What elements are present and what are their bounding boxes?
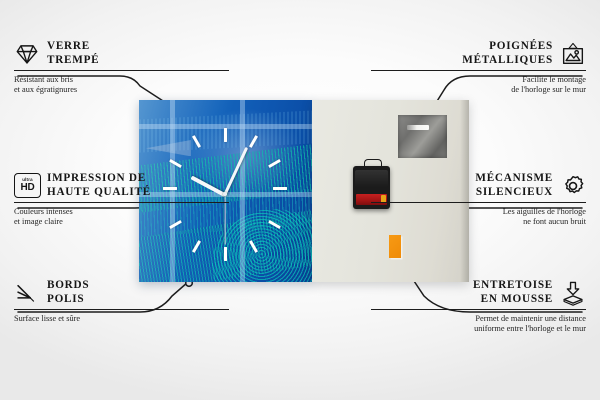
mechanism-hook bbox=[364, 159, 382, 169]
metal-hanging-plate bbox=[398, 115, 447, 159]
feature-sub-line2: de l'horloge sur le mur bbox=[371, 85, 586, 95]
feature-divider bbox=[371, 309, 586, 310]
clock-tick bbox=[224, 128, 227, 142]
gear-icon bbox=[560, 173, 586, 199]
wall-mount-frame-icon bbox=[560, 41, 586, 67]
feature-title-line2: EN MOUSSE bbox=[473, 293, 553, 307]
feature-title-line2: MÉTALLIQUES bbox=[462, 54, 553, 68]
ultra-hd-icon-large-text: HD bbox=[20, 183, 34, 193]
feature-title-line1: MÉCANISME bbox=[475, 172, 553, 186]
feature-sub-line1: Couleurs intenses bbox=[14, 207, 229, 217]
feature-divider bbox=[371, 202, 586, 203]
feature-title-line1: IMPRESSION DE bbox=[47, 172, 151, 186]
feature-sub-line2: et aux égratignures bbox=[14, 85, 229, 95]
feature-title-line1: BORDS bbox=[47, 279, 89, 293]
feature-sub-line2: et image claire bbox=[14, 217, 229, 227]
feature-sub-line1: Facilite le montage bbox=[371, 75, 586, 85]
ultra-hd-icon: ultra HD bbox=[14, 173, 40, 199]
feature-mecanisme-silencieux: MÉCANISME SILENCIEUX Les aiguilles de l'… bbox=[371, 172, 586, 228]
feature-divider bbox=[14, 70, 229, 71]
orange-foam-spacer bbox=[389, 235, 401, 259]
feature-title-line1: ENTRETOISE bbox=[473, 279, 553, 293]
feature-entretoise-en-mousse: ENTRETOISE EN MOUSSE Permet de maintenir… bbox=[371, 279, 586, 335]
feature-verre-trempe: VERRE TREMPÉ Résistant aux bris et aux é… bbox=[14, 40, 229, 96]
feature-sub-line1: Résistant aux bris bbox=[14, 75, 229, 85]
feature-bords-polis: BORDS POLIS Surface lisse et sûre bbox=[14, 279, 229, 324]
hanger-slot bbox=[407, 125, 429, 130]
foam-spacer-icon bbox=[560, 280, 586, 306]
feature-title-line1: POIGNÉES bbox=[462, 40, 553, 54]
feature-divider bbox=[14, 309, 229, 310]
feature-sub-line1: Les aiguilles de l'horloge bbox=[371, 207, 586, 217]
feature-divider bbox=[371, 70, 586, 71]
diamond-icon bbox=[14, 41, 40, 67]
polished-edges-icon bbox=[14, 280, 40, 306]
feature-title-line2: POLIS bbox=[47, 293, 89, 307]
feature-poignees-metalliques: POIGNÉES MÉTALLIQUES Facilite le montage… bbox=[371, 40, 586, 96]
infographic-canvas: VERRE TREMPÉ Résistant aux bris et aux é… bbox=[0, 0, 600, 400]
clock-tick bbox=[224, 247, 227, 261]
feature-sub-line1: Permet de maintenir une distance bbox=[371, 314, 586, 324]
feature-divider bbox=[14, 202, 229, 203]
feature-impression-haute-qualite: ultra HD IMPRESSION DE HAUTE QUALITÉ Cou… bbox=[14, 172, 229, 228]
feature-sub-line1: Surface lisse et sûre bbox=[14, 314, 229, 324]
feature-sub-line2: uniforme entre l'horloge et le mur bbox=[371, 324, 586, 334]
feature-title-line2: TREMPÉ bbox=[47, 54, 99, 68]
feature-sub-line2: ne font aucun bruit bbox=[371, 217, 586, 227]
clock-tick bbox=[273, 187, 287, 190]
feature-title-line1: VERRE bbox=[47, 40, 99, 54]
feature-title-line2: SILENCIEUX bbox=[475, 186, 553, 200]
feature-title-line2: HAUTE QUALITÉ bbox=[47, 186, 151, 200]
